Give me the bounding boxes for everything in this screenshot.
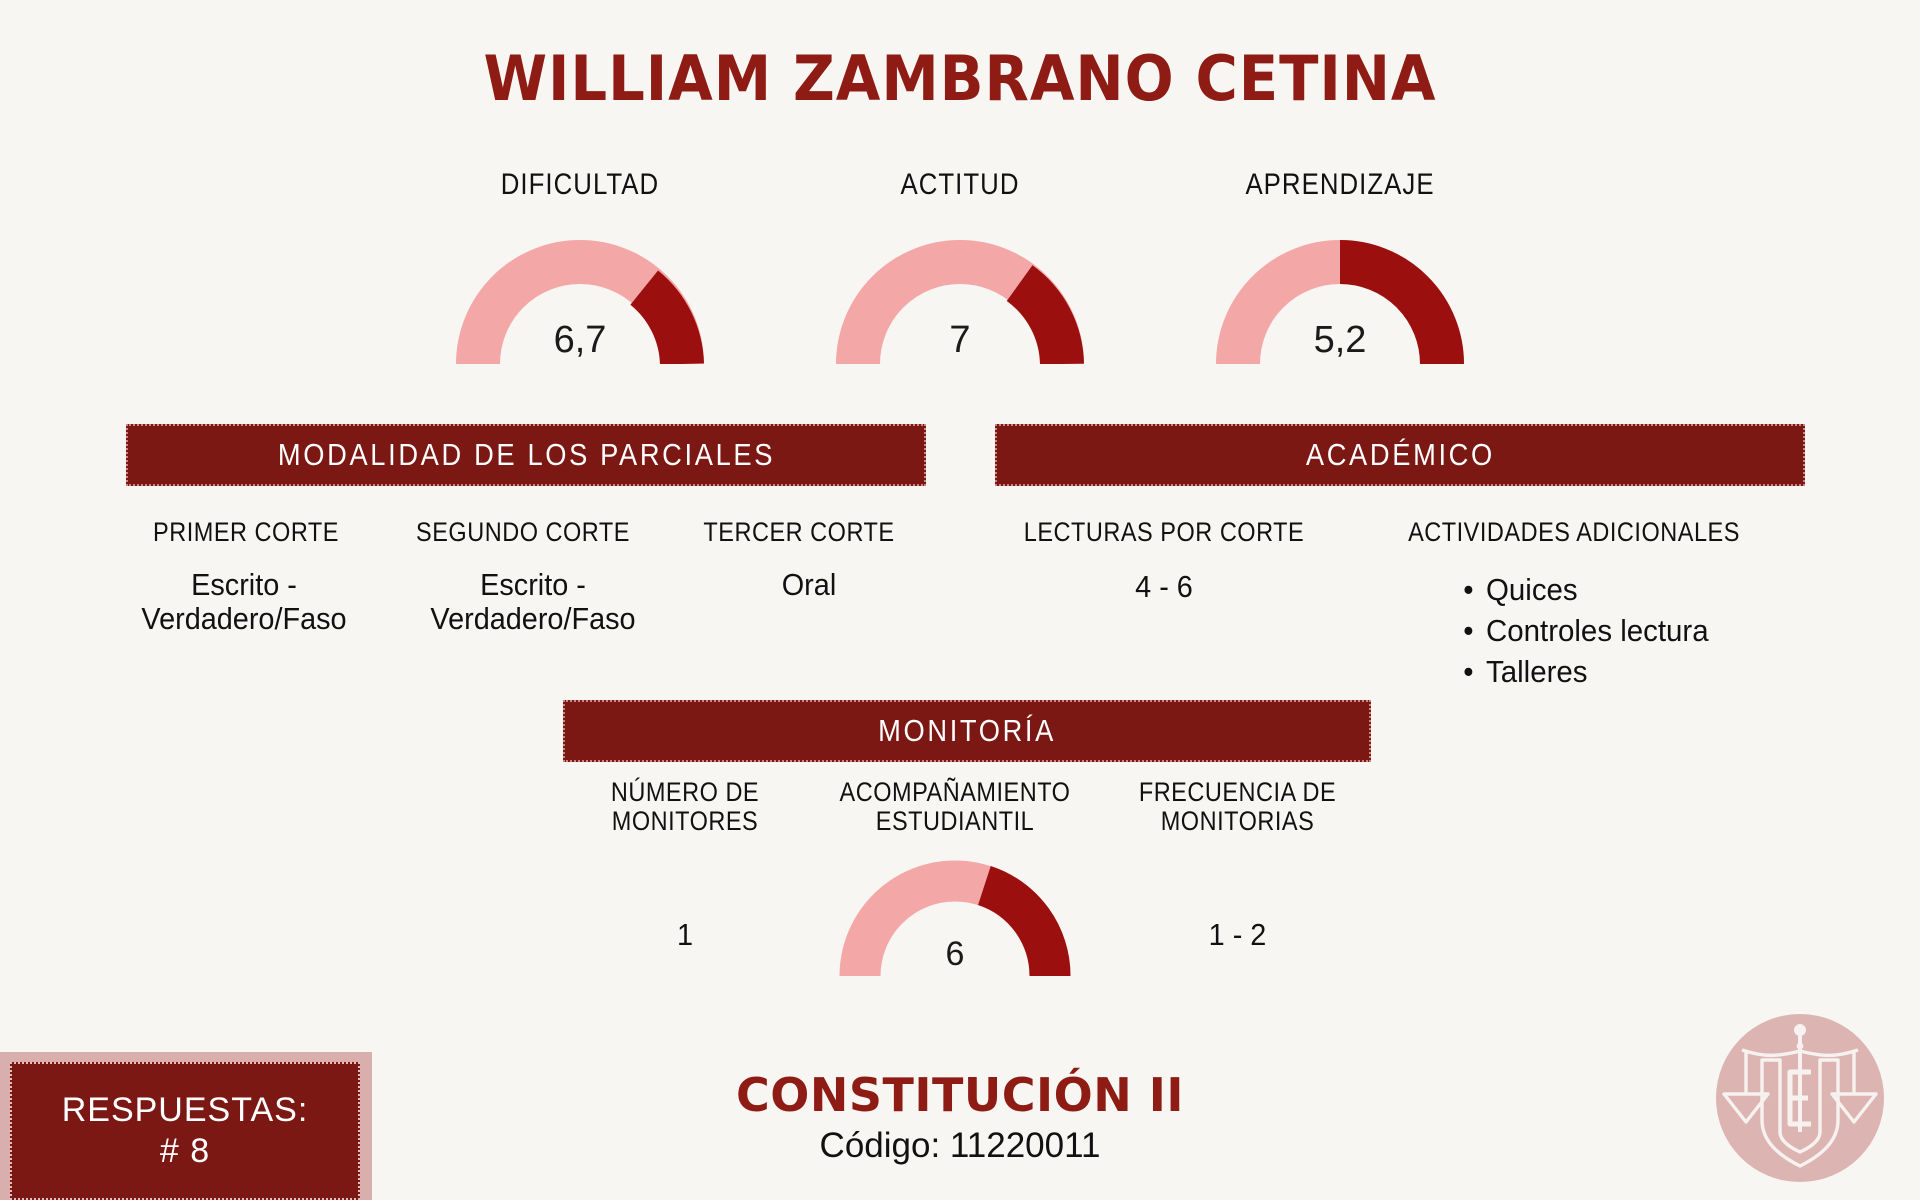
page-title: WILLIAM ZAMBRANO CETINA [67,42,1853,115]
section-header-academico: ACADÉMICO [995,424,1805,486]
monitoria-value-numero: 1 [569,918,802,976]
academico-value-lecturas: 4 - 6 [1002,570,1326,604]
academico-actividades-list: Quices Controles lectura Talleres [1338,570,1820,693]
course-code: Código: 11220011 [0,1126,1920,1166]
monitoria-head-frecuencia: FRECUENCIA DE MONITORIAS [1118,778,1357,836]
monitoria-head-numero: NÚMERO DE MONITORES [576,778,794,836]
monitoria-gauge-acompanamiento: 6 [810,860,1100,976]
list-item: Controles lectura [1486,611,1803,652]
parciales-headings: PRIMER CORTE SEGUNDO CORTE TERCER CORTE [112,518,932,547]
section-header-parciales: MODALIDAD DE LOS PARCIALES [126,424,926,486]
gauge-dificultad: 6,7 [456,240,704,364]
rating-actitud: ACTITUD 7 [810,168,1110,364]
parciales-value-segundo-corte: Escrito - Verdadero/Faso [398,568,668,636]
gauge-aprendizaje: 5,2 [1216,240,1464,364]
list-item: Quices [1486,570,1803,611]
academico-head-actividades: ACTIVIDADES ADICIONALES [1369,518,1780,547]
section-header-parciales-label: MODALIDAD DE LOS PARCIALES [277,437,774,473]
list-item: Talleres [1486,652,1803,693]
rating-label-actitud: ACTITUD [831,168,1089,202]
monitoria-headings: NÚMERO DE MONITORES ACOMPAÑAMIENTO ESTUD… [560,778,1375,836]
justice-scales-shield-logo [1716,1014,1884,1182]
parciales-value-primer-corte: Escrito - Verdadero/Faso [110,568,378,636]
section-header-monitoria-label: MONITORÍA [878,713,1056,749]
monitoria-head-acompanamiento: ACOMPAÑAMIENTO ESTUDIANTIL [829,778,1081,836]
academico-head-lecturas: LECTURAS POR CORTE [1013,518,1316,547]
section-header-academico-label: ACADÉMICO [1306,437,1495,473]
monitoria-values: 1 6 1 - 2 [560,860,1375,976]
course-title: CONSTITUCIÓN II [0,1068,1920,1122]
parciales-value-tercer-corte: Oral [687,568,931,602]
parciales-values: Escrito - Verdadero/Faso Escrito - Verda… [100,568,940,636]
academico-headings: LECTURAS POR CORTE ACTIVIDADES ADICIONAL… [990,518,1810,547]
section-header-monitoria: MONITORÍA [563,700,1371,762]
academico-values: 4 - 6 Quices Controles lectura Talleres [990,570,1820,693]
gauge-value-dificultad: 6,7 [456,319,704,362]
ratings-gauges: DIFICULTAD 6,7 ACTITUD 7 APRENDIZAJE 5, [430,168,1490,364]
parciales-head-segundo-corte: SEGUNDO CORTE [399,518,648,547]
rating-aprendizaje: APRENDIZAJE 5,2 [1190,168,1490,364]
gauge-value-actitud: 7 [836,319,1084,362]
parciales-head-primer-corte: PRIMER CORTE [129,518,362,547]
rating-label-aprendizaje: APRENDIZAJE [1211,168,1469,202]
parciales-head-tercer-corte: TERCER CORTE [683,518,914,547]
rating-label-dificultad: DIFICULTAD [451,168,709,202]
gauge-value-aprendizaje: 5,2 [1216,319,1464,362]
rating-dificultad: DIFICULTAD 6,7 [430,168,730,364]
monitoria-value-frecuencia: 1 - 2 [1110,918,1366,976]
gauge-actitud: 7 [836,240,1084,364]
gauge-value-acompanamiento: 6 [839,935,1071,974]
